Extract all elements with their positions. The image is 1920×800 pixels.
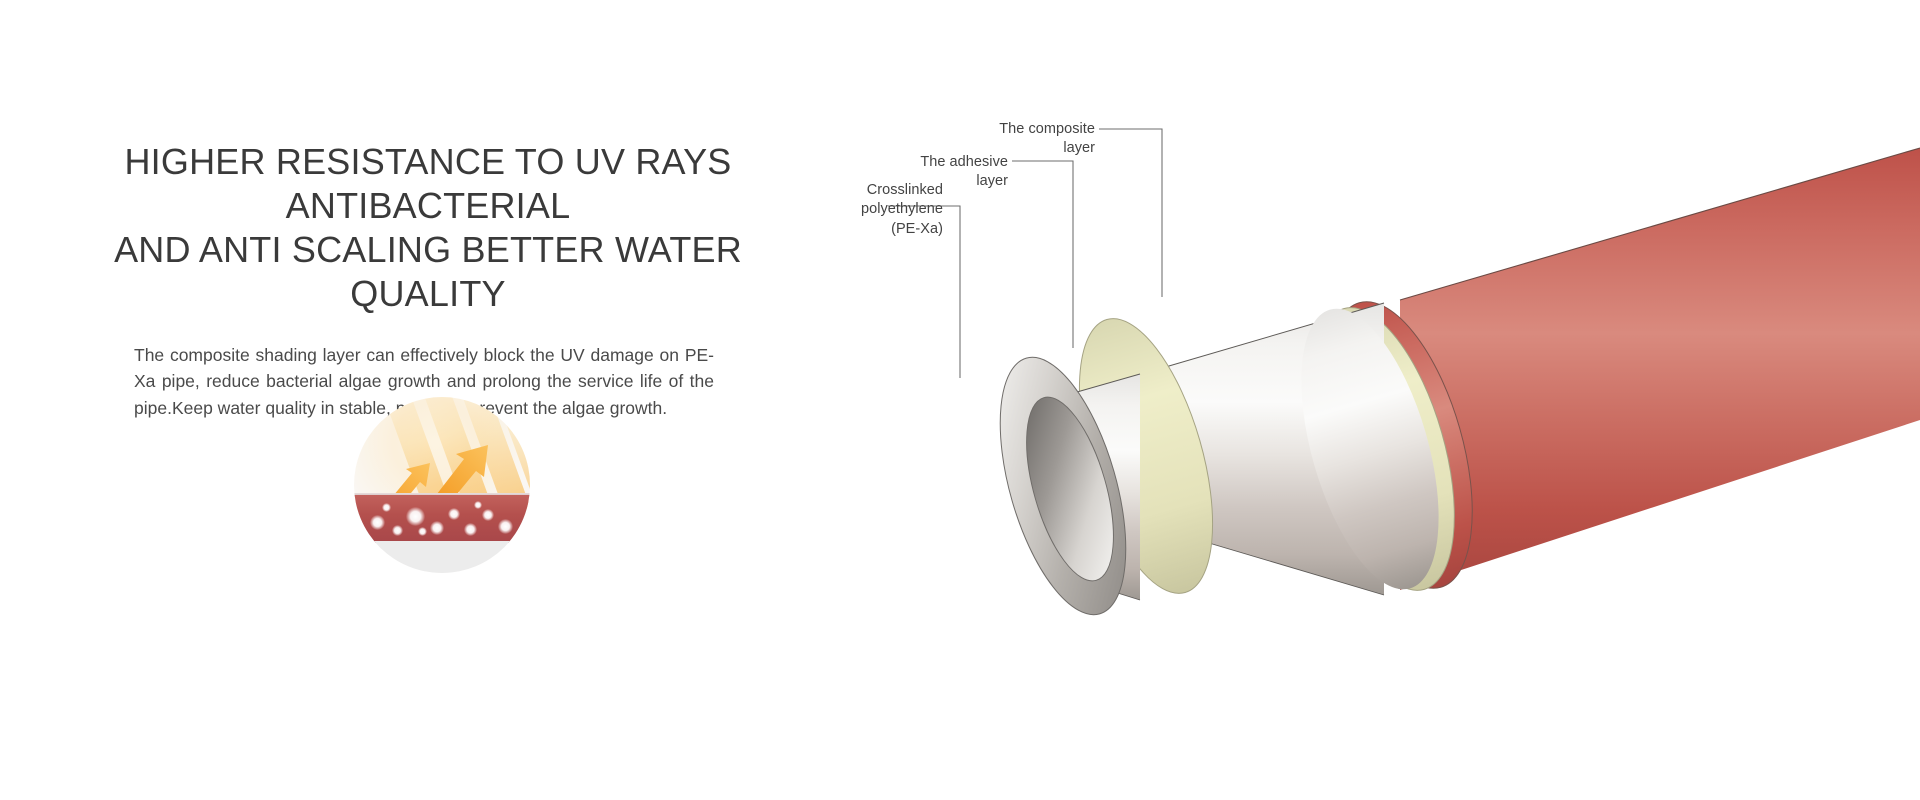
icon-base (354, 541, 530, 573)
outer-composite-layer (1300, 148, 1920, 604)
protective-layer-band (354, 495, 530, 543)
page-title: HIGHER RESISTANCE TO UV RAYS ANTIBACTERI… (78, 140, 778, 316)
adhesive-layer-ring-right (1286, 292, 1482, 606)
left-content-panel: HIGHER RESISTANCE TO UV RAYS ANTIBACTERI… (78, 140, 778, 421)
middle-white-layer (1145, 294, 1466, 605)
adhesive-layer-ring-left (1053, 304, 1239, 608)
callout-label-pexa: Crosslinked polyethylene (PE-Xa) (785, 181, 943, 239)
uv-blocking-icon (354, 397, 530, 573)
inner-pexa-layer (975, 344, 1150, 629)
